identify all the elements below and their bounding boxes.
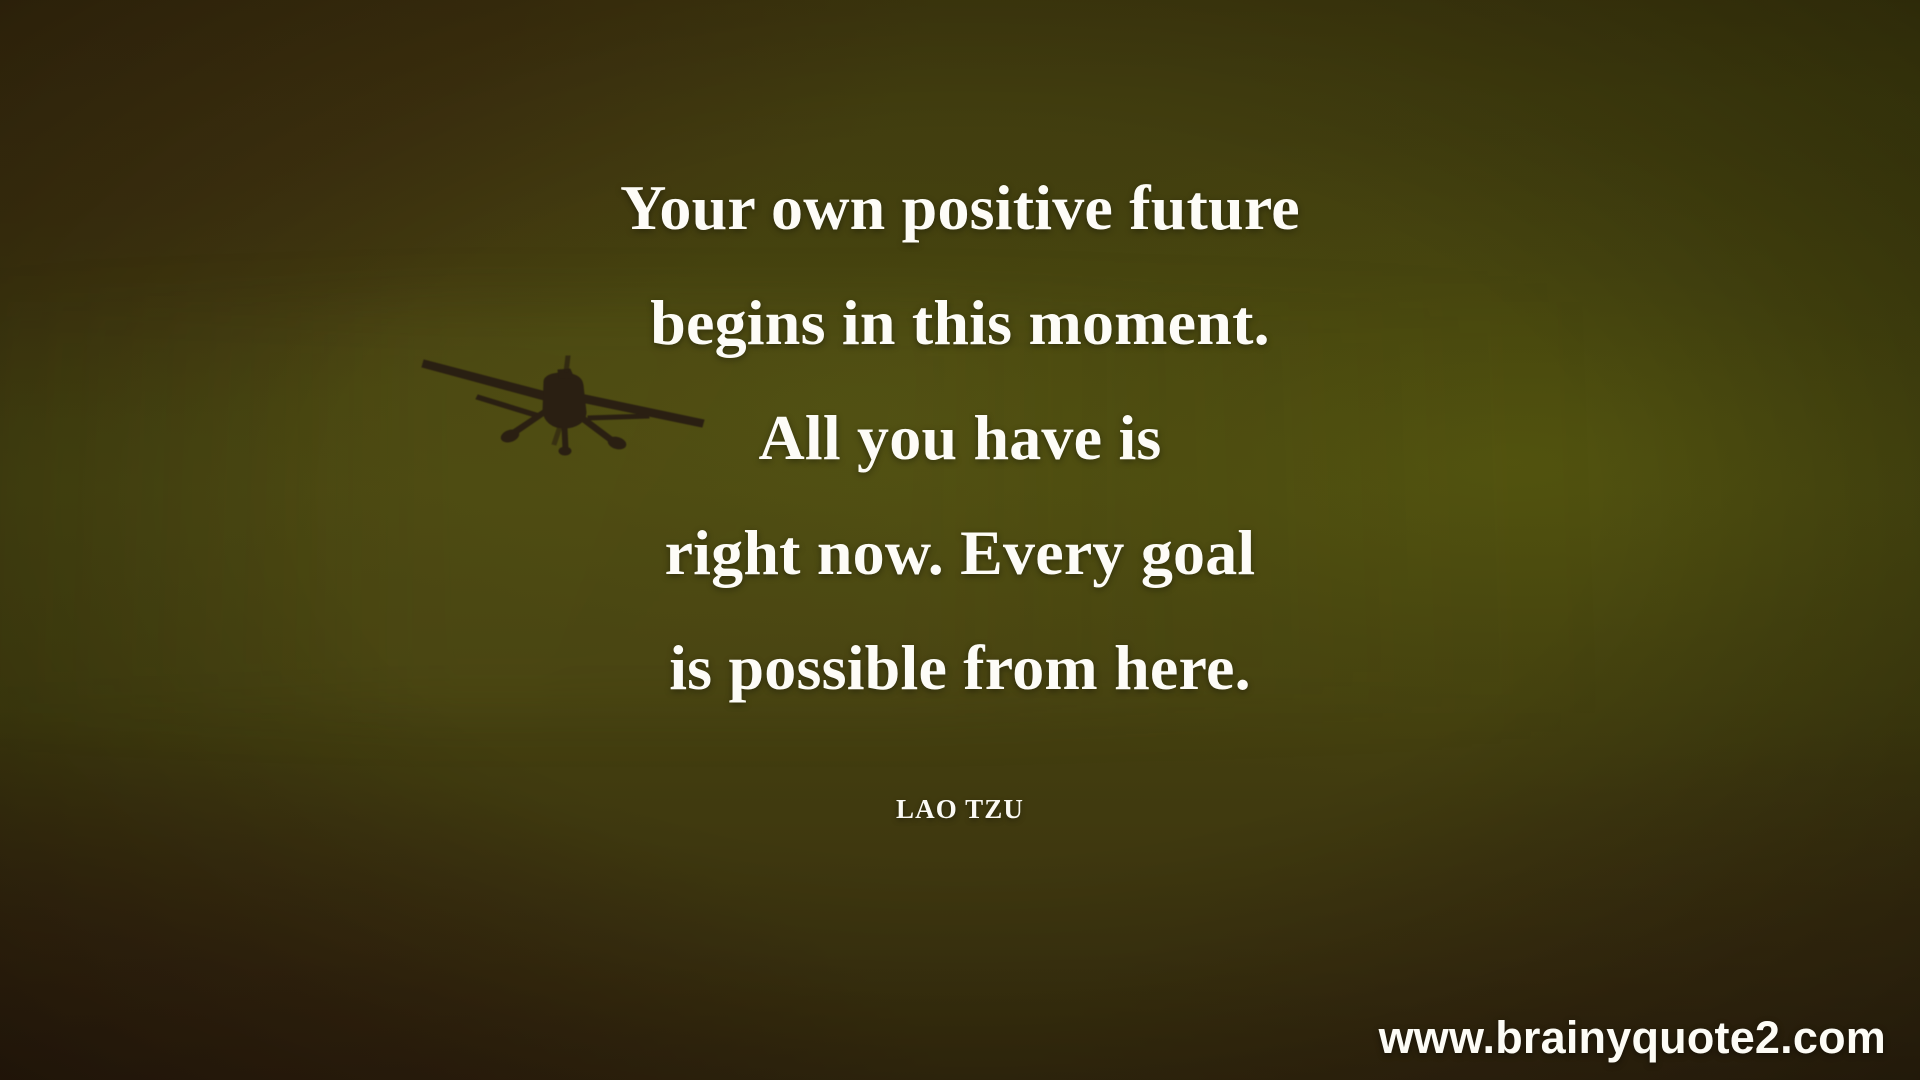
quote-line: is possible from here. <box>0 610 1920 725</box>
quote-author: LAO TZU <box>0 794 1920 825</box>
quote-line: Your own positive future <box>0 150 1920 265</box>
quote-text: Your own positive future begins in this … <box>0 150 1920 725</box>
quote-line: All you have is <box>0 380 1920 495</box>
quote-line: begins in this moment. <box>0 265 1920 380</box>
quote-line: right now. Every goal <box>0 495 1920 610</box>
website-watermark: www.brainyquote2.com <box>1379 1012 1886 1064</box>
quote-card: Your own positive future begins in this … <box>0 0 1920 1080</box>
